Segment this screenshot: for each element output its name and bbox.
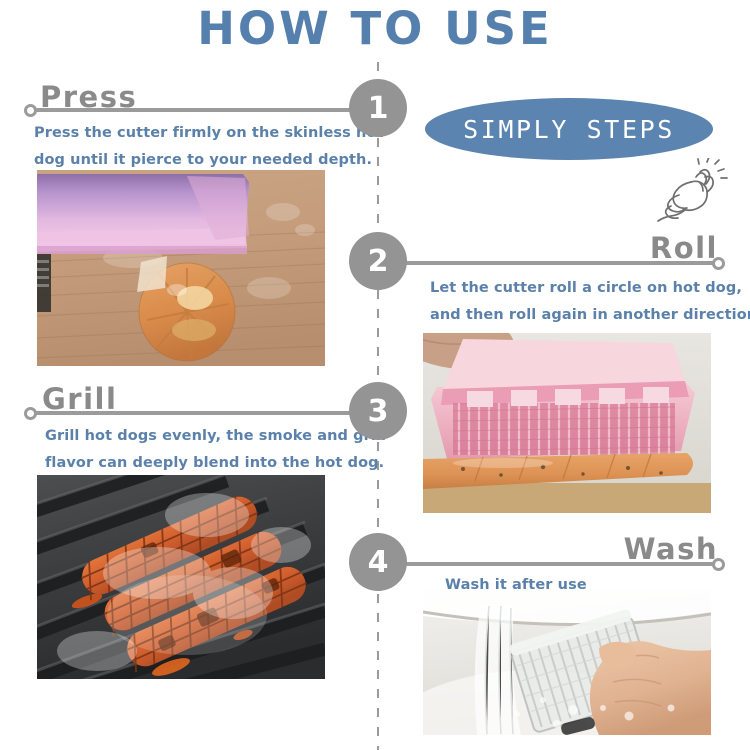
step-4-body-line-1: Wash it after use bbox=[445, 572, 725, 599]
step-1-photo bbox=[37, 170, 325, 366]
step-2-body-line-2: and then roll again in another direction… bbox=[430, 302, 740, 329]
page-title: HOW TO USE bbox=[0, 2, 750, 55]
step-2-body: Let the cutter roll a circle on hot dog,… bbox=[430, 275, 740, 329]
step-1-body-line-1: Press the cutter firmly on the skinless … bbox=[34, 120, 364, 147]
step-1-endcap-icon bbox=[24, 104, 37, 117]
step-1-body-line-2: dog until it pierce to your needed depth… bbox=[34, 147, 364, 174]
step-4-number-badge: 4 bbox=[349, 533, 407, 591]
step-3-endcap-icon bbox=[24, 407, 37, 420]
step-1-number-badge: 1 bbox=[349, 79, 407, 137]
step-3-photo bbox=[37, 475, 325, 679]
step-2-heading: Roll bbox=[650, 231, 718, 265]
step-2-body-line-1: Let the cutter roll a circle on hot dog, bbox=[430, 275, 740, 302]
step-2-number-badge: 2 bbox=[349, 232, 407, 290]
step-1-heading: Press bbox=[40, 80, 137, 114]
simply-steps-badge: SIMPLY STEPS bbox=[425, 98, 713, 160]
step-4-photo bbox=[423, 590, 711, 735]
step-1-body: Press the cutter firmly on the skinless … bbox=[34, 120, 364, 174]
step-3-number-badge: 3 bbox=[349, 382, 407, 440]
how-to-use-infographic: HOW TO USE Press Press the cutter firmly… bbox=[0, 0, 750, 750]
snapping-hand-icon bbox=[655, 158, 731, 230]
step-3-body: Grill hot dogs evenly, the smoke and gri… bbox=[45, 423, 375, 477]
step-4-heading: Wash bbox=[624, 532, 718, 566]
simply-steps-label: SIMPLY STEPS bbox=[463, 115, 675, 144]
step-3-heading: Grill bbox=[42, 382, 117, 416]
step-3-body-line-1: Grill hot dogs evenly, the smoke and gri… bbox=[45, 423, 375, 450]
step-2-photo bbox=[423, 333, 711, 513]
step-4-body: Wash it after use bbox=[445, 572, 725, 599]
step-3-body-line-2: flavor can deeply blend into the hot dog… bbox=[45, 450, 375, 477]
